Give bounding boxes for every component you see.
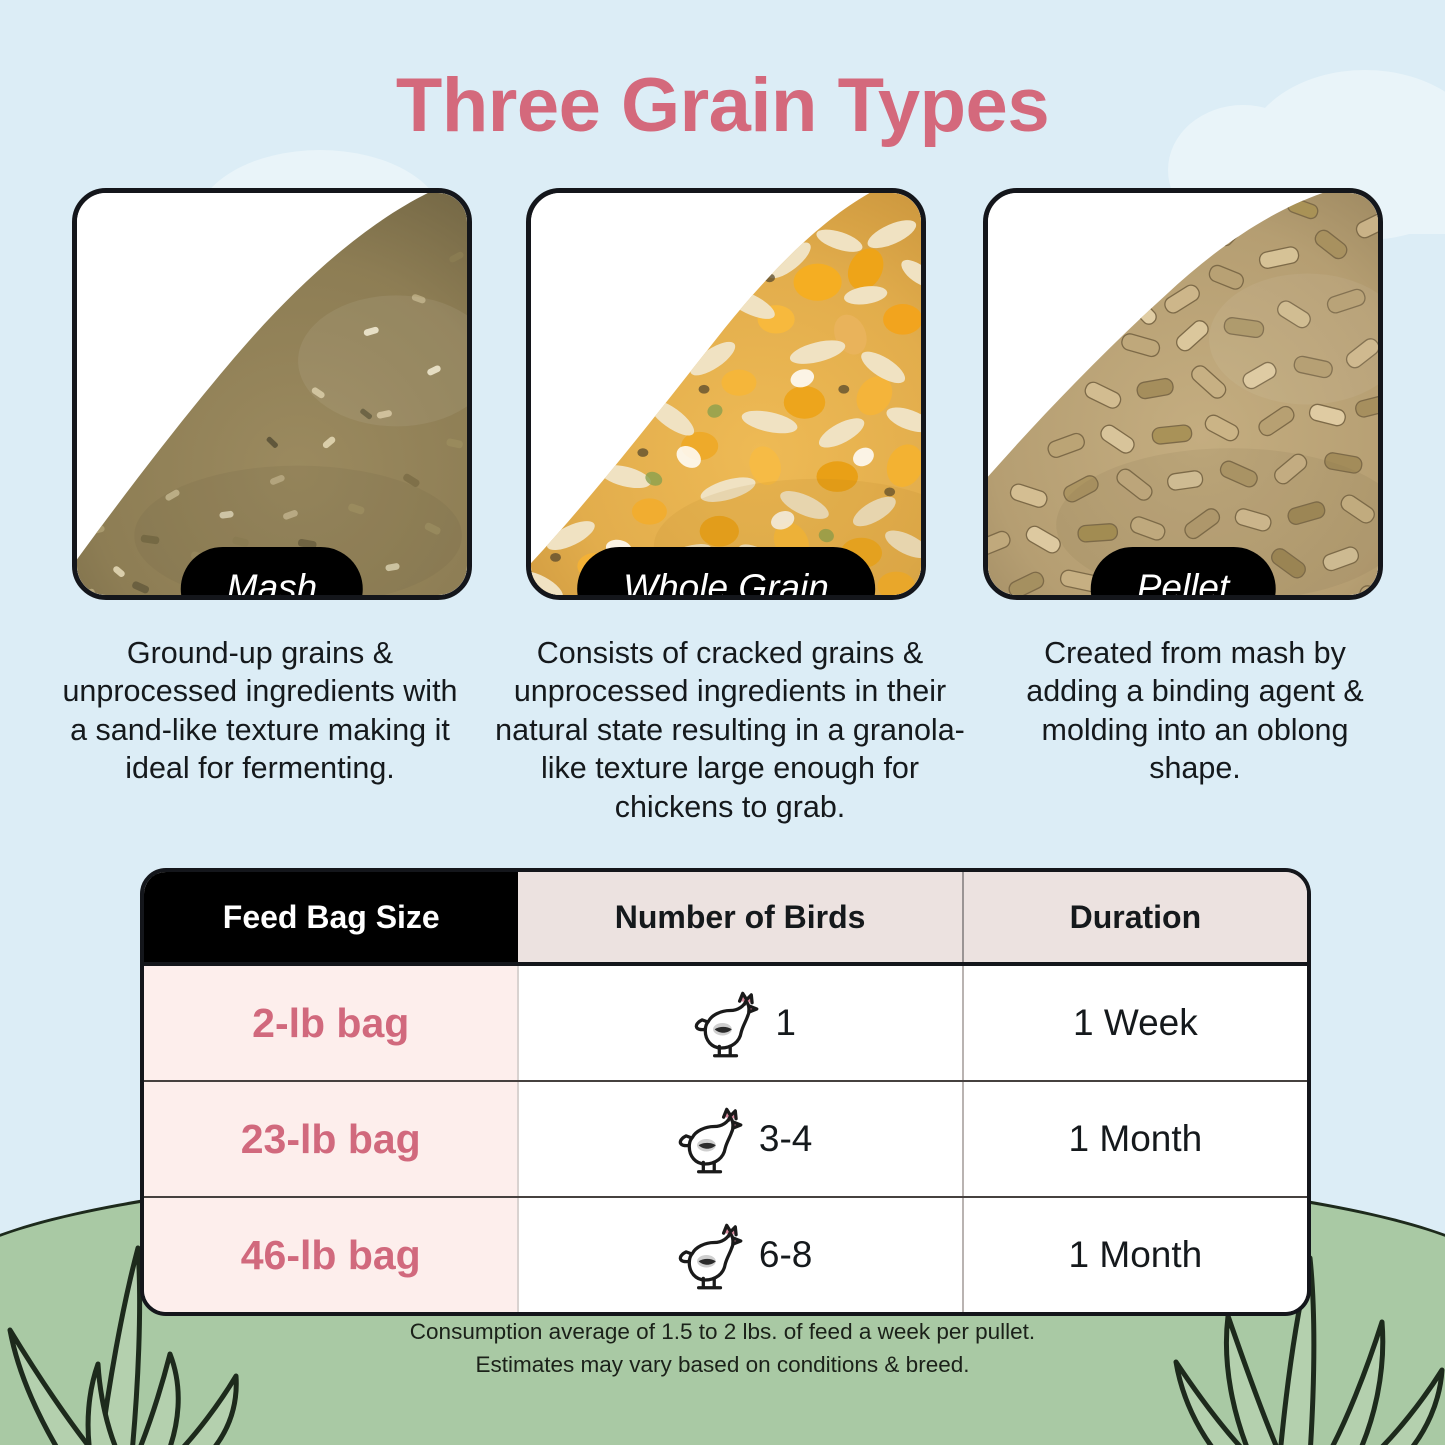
- table-header-feed-bag-size: Feed Bag Size: [144, 872, 518, 964]
- grain-pellet-pile-image: [983, 188, 1383, 600]
- footnote-line-2: Estimates may vary based on conditions &…: [0, 1349, 1445, 1382]
- grain-description-mash: Ground-up grains & unprocessed ingredien…: [60, 634, 460, 826]
- grain-mash-pile-image: [72, 188, 472, 600]
- grain-card-pellet[interactable]: Pellet: [983, 188, 1383, 600]
- cell-bird-count: 3-4: [759, 1118, 812, 1160]
- cell-feed-bag-size: 23-lb bag: [144, 1081, 518, 1197]
- cell-feed-bag-size: 2-lb bag: [144, 964, 518, 1081]
- grain-card-row: Mash: [72, 188, 1372, 608]
- cell-duration: 1 Month: [963, 1081, 1307, 1197]
- cell-number-of-birds: 6-8: [518, 1197, 962, 1312]
- grain-card-mash[interactable]: Mash: [72, 188, 472, 600]
- cell-feed-bag-size: 46-lb bag: [144, 1197, 518, 1312]
- chicken-icon: [669, 1216, 747, 1294]
- page-title: Three Grain Types: [0, 68, 1445, 144]
- cell-duration: 1 Month: [963, 1197, 1307, 1312]
- table-header-row: Feed Bag Size Number of Birds Duration: [144, 872, 1307, 964]
- chicken-icon: [669, 1100, 747, 1178]
- cell-duration: 1 Week: [963, 964, 1307, 1081]
- cell-bird-count: 1: [775, 1002, 796, 1044]
- cell-number-of-birds: 3-4: [518, 1081, 962, 1197]
- grain-whole-pile-image: [526, 188, 926, 600]
- grain-card-label-mash: Mash: [181, 547, 363, 600]
- table-row: 23-lb bag: [144, 1081, 1307, 1197]
- table-header-duration: Duration: [963, 872, 1307, 964]
- cell-number-of-birds: 1: [518, 964, 962, 1081]
- footnote-line-1: Consumption average of 1.5 to 2 lbs. of …: [0, 1316, 1445, 1349]
- footnote: Consumption average of 1.5 to 2 lbs. of …: [0, 1316, 1445, 1381]
- grain-card-label-whole-grain: Whole Grain: [577, 547, 875, 600]
- grain-card-label-pellet: Pellet: [1091, 547, 1276, 600]
- grain-description-row: Ground-up grains & unprocessed ingredien…: [60, 634, 1390, 826]
- grain-description-pellet: Created from mash by adding a binding ag…: [1000, 634, 1390, 826]
- infographic-canvas: Three Grain Types: [0, 0, 1445, 1445]
- grain-description-whole-grain: Consists of cracked grains & unprocessed…: [495, 634, 965, 826]
- feed-bag-table: Feed Bag Size Number of Birds Duration 2…: [140, 868, 1311, 1316]
- chicken-icon: [685, 984, 763, 1062]
- cell-bird-count: 6-8: [759, 1234, 812, 1276]
- grain-card-whole-grain[interactable]: Whole Grain: [526, 188, 926, 600]
- table-row: 46-lb bag: [144, 1197, 1307, 1312]
- table-row: 2-lb bag: [144, 964, 1307, 1081]
- table-header-number-of-birds: Number of Birds: [518, 872, 962, 964]
